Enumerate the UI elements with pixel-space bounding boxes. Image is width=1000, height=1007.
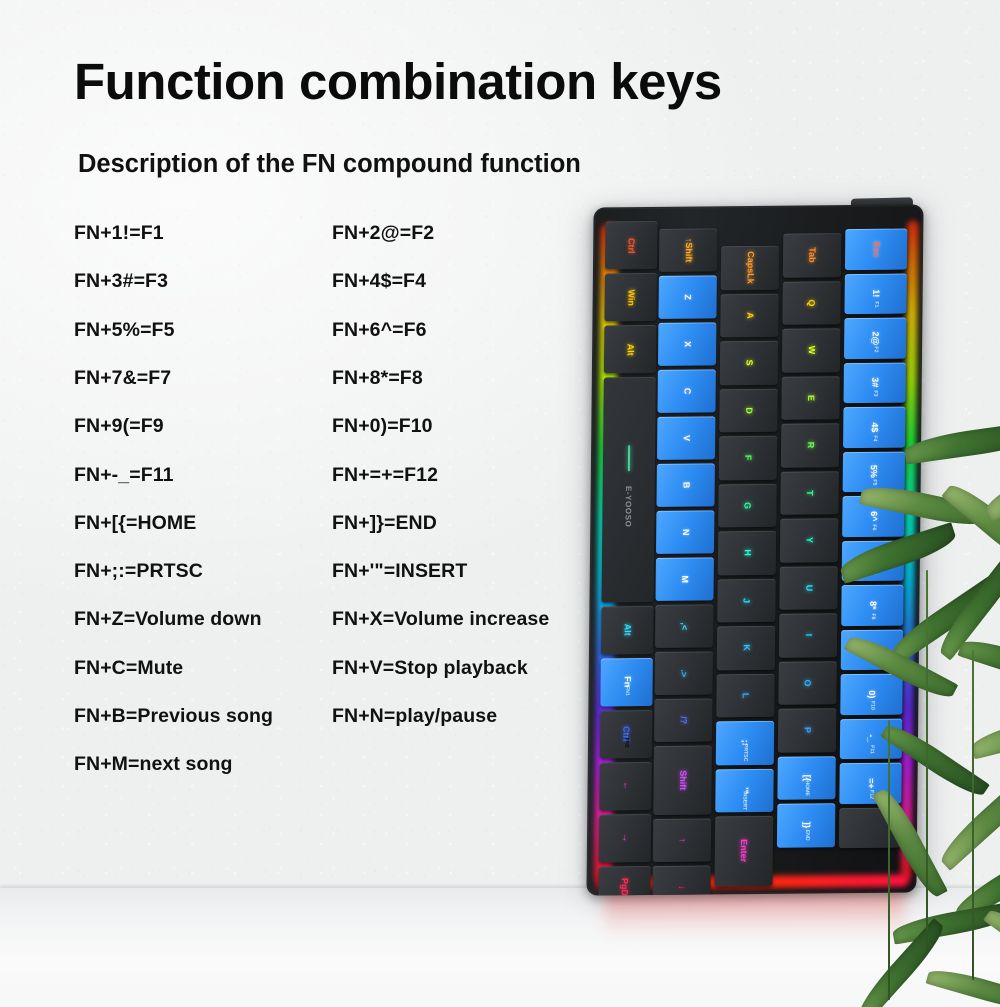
keycap-ctrl[interactable]: Ctrl (605, 221, 657, 270)
fn-combo-left-4: FN+9(=F9 (74, 415, 164, 438)
plant-stem (888, 720, 890, 1000)
keycap-legend: 1! (871, 290, 880, 298)
keycap-sub-legend: HOME (804, 780, 809, 796)
keycap-legend: ]} (802, 822, 811, 829)
plant-leaf (957, 634, 1000, 694)
keycap-l[interactable]: L (716, 673, 774, 717)
keycap-legend: X (683, 341, 692, 347)
keycap-legend: D (744, 407, 753, 414)
keycap-alt[interactable]: Alt (604, 325, 656, 374)
keycap-legend: O (803, 679, 812, 686)
keycap-legend: PgDn (620, 878, 629, 895)
keycap-enter[interactable]: Enter (714, 816, 773, 886)
keycap-c[interactable]: C (657, 369, 715, 413)
plant-leaf (926, 964, 1000, 1007)
fn-combo-left-11: FN+M=next song (74, 753, 233, 776)
keycap-tab[interactable]: Tab (783, 233, 841, 277)
keycap-sub-legend: PRTSC (742, 744, 747, 762)
plant-leaf (872, 785, 948, 901)
keycap-f[interactable]: F (719, 436, 777, 480)
fn-combo-right-4: FN+0)=F10 (332, 415, 433, 438)
keycap-g[interactable]: G (718, 483, 776, 527)
keycap-legend: 2@ (871, 331, 880, 345)
keycap-s[interactable]: S (720, 341, 778, 385)
keycap-n[interactable]: N (656, 510, 714, 554)
keycap-i[interactable]: I (779, 613, 837, 657)
keycap--[interactable]: ,< (655, 604, 713, 648)
keycap-m[interactable]: M (655, 557, 713, 601)
plant-stem (972, 650, 974, 980)
fn-combo-right-1: FN+4$=F4 (332, 270, 426, 293)
keycap-legend: ↑Shift (684, 238, 693, 263)
keycap-alt[interactable]: Alt (601, 606, 653, 655)
keycap-legend: I (804, 634, 813, 637)
keycap--[interactable]: .> (654, 651, 712, 695)
keycap-legend: A (745, 312, 754, 319)
fn-combo-left-10: FN+B=Previous song (74, 705, 273, 728)
fn-combo-left-6: FN+[{=HOME (74, 512, 196, 535)
keycap-legend: Z (683, 294, 692, 300)
fn-combo-left-8: FN+Z=Volume down (74, 608, 262, 631)
fn-combo-left-5: FN+-_=F11 (74, 464, 174, 487)
keycap-legend: .> (679, 669, 688, 677)
keycap-sub-legend: FN1 (624, 686, 629, 696)
keycap-legend: 3# (870, 378, 879, 388)
keycap-legend: Ctrl (627, 237, 636, 253)
plant-stem (926, 570, 928, 950)
keycap--[interactable]: ← (599, 762, 651, 811)
fn-combo-right-3: FN+8*=F8 (332, 367, 423, 390)
keycap-p[interactable]: P (778, 708, 836, 752)
keycap--[interactable]: [{HOME (777, 756, 835, 800)
keycap-w[interactable]: W (782, 328, 840, 372)
keycap-3-[interactable]: 3#F3 (844, 362, 906, 403)
keycap-v[interactable]: V (657, 416, 715, 460)
keycap-legend: P (803, 727, 812, 733)
fn-combo-left-3: FN+7&=F7 (74, 367, 171, 390)
keycap-fn[interactable]: FnFN1 (600, 658, 652, 707)
keycap-sub-legend: F2 (872, 346, 877, 352)
keycap-legend: W (807, 346, 816, 355)
plant-leaf (837, 522, 959, 584)
keycap-win[interactable]: Win (604, 273, 656, 322)
fn-combo-left-2: FN+5%=F5 (74, 319, 175, 342)
keycap-legend: Esc (872, 241, 881, 257)
keycap-e[interactable]: E (781, 376, 839, 420)
keycap-h[interactable]: H (718, 531, 776, 575)
plant-leaf (903, 420, 1000, 464)
keycap-legend: U (804, 584, 813, 591)
spacebar-indicator-icon (628, 446, 630, 472)
keycap-shift[interactable]: Shift (653, 745, 712, 814)
keycap--[interactable]: ;:PRTSC (716, 721, 774, 765)
keycap-sub-legend: FN2 (623, 738, 628, 748)
keycap-legend: C (682, 388, 691, 395)
keycap-legend: H (742, 550, 751, 557)
keycap--[interactable]: ↓ (652, 865, 710, 895)
keycap-legend: T (805, 490, 814, 496)
keycap-legend: N (681, 529, 690, 536)
keycap-k[interactable]: K (717, 626, 775, 670)
fn-combo-left-0: FN+1!=F1 (74, 222, 164, 245)
keycap-legend: L (741, 693, 750, 699)
keycap-ctrl[interactable]: CtrlFN2 (600, 710, 652, 759)
keycap-q[interactable]: Q (782, 281, 840, 325)
keycap-o[interactable]: O (778, 661, 836, 705)
fn-combo-left-1: FN+3#=F3 (74, 270, 168, 293)
keycap-legend: → (620, 834, 629, 843)
keycap-legend: Alt (626, 343, 635, 355)
keycap-legend: R (806, 442, 815, 449)
keycap-sub-legend: INSERT (742, 791, 747, 810)
keycap-esc[interactable]: Esc (845, 229, 907, 270)
fn-combo-right-2: FN+6^=F6 (332, 319, 427, 342)
keycap-legend: F (743, 455, 752, 461)
keycap--[interactable]: ]}END (777, 803, 835, 847)
fn-combo-right-7: FN+'"=INSERT (332, 560, 467, 583)
fn-combo-left-7: FN+;:=PRTSC (74, 560, 203, 583)
keycap-a[interactable]: A (720, 293, 778, 337)
keycap-legend: ← (621, 782, 630, 791)
keycap-sub-legend: F3 (872, 391, 877, 397)
keycap-pgdn[interactable]: PgDn (598, 866, 650, 896)
fn-combo-right-10: FN+N=play/pause (332, 705, 497, 728)
keycap-legend: Win (626, 289, 635, 306)
keycap-legend: K (741, 645, 750, 652)
fn-combo-right-6: FN+]}=END (332, 512, 437, 535)
page-subtitle: Description of the FN compound function (78, 150, 581, 179)
decorative-plant (830, 420, 1000, 1007)
keycap--[interactable]: /? (654, 698, 712, 742)
plant-leaf (891, 901, 1000, 944)
keycap-legend: ,< (680, 622, 689, 630)
keycap-legend: Enter (739, 839, 748, 862)
keycap-z[interactable]: Z (658, 275, 716, 319)
keycap-legend: G (743, 502, 752, 509)
keycap-legend: Y (805, 537, 814, 543)
keycap-blank[interactable]: E-YOOSO (601, 377, 655, 602)
keycap-sub-legend: F1 (873, 302, 878, 308)
keycap-legend: Alt (623, 624, 632, 636)
fn-combo-right-9: FN+V=Stop playback (332, 657, 528, 680)
keycap-legend: Q (807, 299, 816, 306)
keycap-legend: V (682, 435, 691, 441)
keycap-legend: ↓ (677, 885, 686, 890)
keycap-legend: CapsLk (745, 251, 754, 284)
keycap-sub-legend: END (803, 830, 808, 841)
keycap-2-[interactable]: 2@F2 (844, 318, 906, 359)
keycap-legend: E (806, 395, 815, 401)
keycap-j[interactable]: J (717, 578, 775, 622)
keycap-1-[interactable]: 1!F1 (844, 273, 906, 314)
plant-leaf (983, 904, 1000, 988)
keyboard-brand-label: E-YOOSO (624, 486, 633, 528)
keycap-legend: ↑ (677, 838, 686, 843)
fn-combo-right-5: FN+=+=F12 (332, 464, 438, 487)
keycap-d[interactable]: D (719, 388, 777, 432)
keycap-legend: /? (679, 716, 688, 724)
keycap-legend: M (680, 575, 689, 583)
fn-combo-left-9: FN+C=Mute (74, 657, 183, 680)
keycap-x[interactable]: X (658, 322, 716, 366)
page-title: Function combination keys (74, 52, 722, 111)
keycap-capslk[interactable]: CapsLk (721, 246, 779, 290)
keycap--[interactable]: '"INSERT (715, 768, 773, 812)
keycap--[interactable]: → (599, 814, 651, 863)
keycap-legend: S (744, 360, 753, 366)
keycap--[interactable]: ↑ (653, 818, 711, 862)
keycap-legend: Shift (678, 770, 687, 790)
fn-combo-right-8: FN+X=Volume increase (332, 608, 549, 631)
keycap-legend: B (681, 482, 690, 489)
keycap-b[interactable]: B (656, 463, 714, 507)
fn-combo-right-0: FN+2@=F2 (332, 222, 434, 245)
keycap-legend: J (742, 598, 751, 603)
keycap-legend: Tab (807, 247, 816, 262)
keycap--shift[interactable]: ↑Shift (659, 228, 717, 272)
